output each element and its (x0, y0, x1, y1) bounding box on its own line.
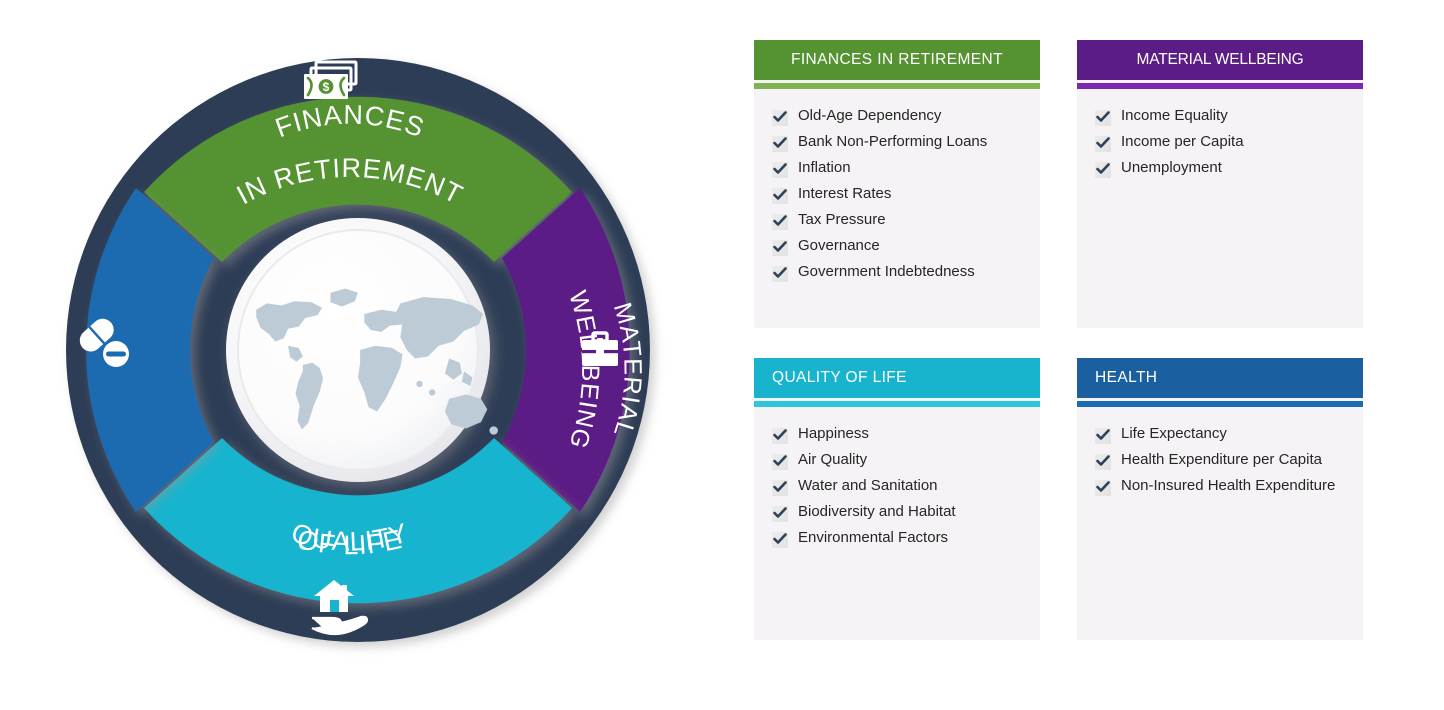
check-icon (1095, 454, 1111, 470)
list-item-label: Bank Non-Performing Loans (798, 133, 987, 151)
check-icon (1095, 110, 1111, 126)
list-item[interactable]: Health Expenditure per Capita (1095, 451, 1353, 470)
list-item[interactable]: Governance (772, 237, 1030, 256)
panel-health: HEALTH Life Expectancy Health Expenditur… (1077, 358, 1363, 640)
panel-body-finances: Old-Age Dependency Bank Non-Performing L… (754, 89, 1040, 299)
check-icon (772, 136, 788, 152)
infographic-page: FINANCES IN RETIREMENT $ (0, 0, 1444, 710)
panel-body-quality: Happiness Air Quality Water and Sanitati… (754, 407, 1040, 565)
list-item-label: Government Indebtedness (798, 263, 975, 281)
list-item[interactable]: Environmental Factors (772, 529, 1030, 548)
list-item[interactable]: Income Equality (1095, 107, 1353, 126)
list-item[interactable]: Happiness (772, 425, 1030, 444)
check-icon (1095, 480, 1111, 496)
svg-text:$: $ (323, 80, 330, 94)
wheel-svg: FINANCES IN RETIREMENT $ (0, 0, 720, 710)
list-item[interactable]: Biodiversity and Habitat (772, 503, 1030, 522)
panel-body-health: Life Expectancy Health Expenditure per C… (1077, 407, 1363, 513)
pillar-panels: FINANCES IN RETIREMENT Old-Age Dependenc… (754, 40, 1374, 650)
list-item[interactable]: Bank Non-Performing Loans (772, 133, 1030, 152)
check-icon (772, 162, 788, 178)
list-item-label: Old-Age Dependency (798, 107, 941, 125)
list-item[interactable]: Inflation (772, 159, 1030, 178)
check-icon (772, 428, 788, 444)
check-icon (772, 240, 788, 256)
list-item[interactable]: Life Expectancy (1095, 425, 1353, 444)
check-icon (772, 214, 788, 230)
panel-header-material: MATERIAL WELLBEING (1077, 40, 1363, 80)
panel-quality-of-life: QUALITY OF LIFE Happiness Air Quality (754, 358, 1040, 640)
panel-material-wellbeing: MATERIAL WELLBEING Income Equality Incom… (1077, 40, 1363, 328)
list-item[interactable]: Unemployment (1095, 159, 1353, 178)
list-item-label: Air Quality (798, 451, 867, 469)
list-item[interactable]: Old-Age Dependency (772, 107, 1030, 126)
panel-header-health: HEALTH (1077, 358, 1363, 398)
wheel-label-health: HEALTH (23, 288, 61, 412)
svg-text:HEALTH: HEALTH (23, 288, 61, 412)
check-icon (772, 506, 788, 522)
list-item-label: Income per Capita (1121, 133, 1244, 151)
list-item-label: Life Expectancy (1121, 425, 1227, 443)
list-item[interactable]: Government Indebtedness (772, 263, 1030, 282)
check-icon (772, 480, 788, 496)
list-item-label: Income Equality (1121, 107, 1228, 125)
list-item[interactable]: Water and Sanitation (772, 477, 1030, 496)
check-icon (772, 454, 788, 470)
list-item-label: Inflation (798, 159, 851, 177)
panel-header-finances: FINANCES IN RETIREMENT (754, 40, 1040, 80)
list-item[interactable]: Interest Rates (772, 185, 1030, 204)
list-item-label: Water and Sanitation (798, 477, 938, 495)
panel-body-material: Income Equality Income per Capita Unempl… (1077, 89, 1363, 195)
list-item[interactable]: Non-Insured Health Expenditure (1095, 477, 1353, 496)
check-icon (772, 188, 788, 204)
check-icon (772, 532, 788, 548)
check-icon (1095, 428, 1111, 444)
list-item-label: Governance (798, 237, 880, 255)
list-item-label: Unemployment (1121, 159, 1222, 177)
check-icon (772, 266, 788, 282)
list-item[interactable]: Air Quality (772, 451, 1030, 470)
pillars-wheel-diagram: FINANCES IN RETIREMENT $ (0, 0, 720, 710)
list-item-label: Environmental Factors (798, 529, 948, 547)
list-item-label: Biodiversity and Habitat (798, 503, 956, 521)
panel-finances-in-retirement: FINANCES IN RETIREMENT Old-Age Dependenc… (754, 40, 1040, 328)
list-item[interactable]: Income per Capita (1095, 133, 1353, 152)
list-item[interactable]: Tax Pressure (772, 211, 1030, 230)
list-item-label: Interest Rates (798, 185, 891, 203)
check-icon (1095, 162, 1111, 178)
check-icon (772, 110, 788, 126)
check-icon (1095, 136, 1111, 152)
list-item-label: Non-Insured Health Expenditure (1121, 477, 1335, 495)
list-item-label: Health Expenditure per Capita (1121, 451, 1322, 469)
panel-header-quality: QUALITY OF LIFE (754, 358, 1040, 398)
list-item-label: Happiness (798, 425, 869, 443)
list-item-label: Tax Pressure (798, 211, 886, 229)
